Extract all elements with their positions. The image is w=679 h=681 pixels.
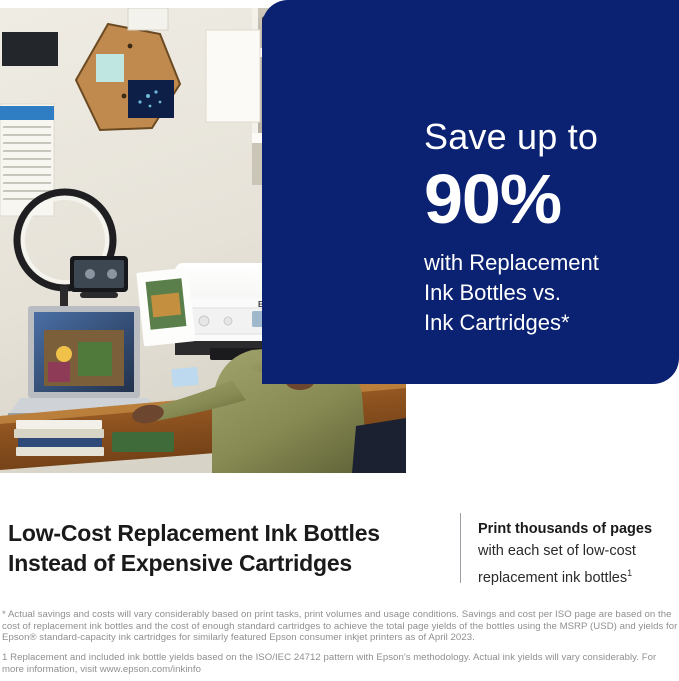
promo-subline-2: Ink Bottles vs. [424, 278, 674, 308]
callout-footnote-marker: 1 [627, 568, 632, 578]
callout-line-2: with each set of low-cost [478, 540, 673, 562]
promo-subline-1: with Replacement [424, 248, 674, 278]
promo-subline-3: Ink Cartridges* [424, 308, 674, 338]
hero-section: EPSON [0, 0, 679, 474]
callout-strong: Print thousands of pages [478, 518, 673, 540]
advertisement-page: EPSON [0, 0, 679, 681]
vertical-divider [460, 513, 461, 583]
callout-block: Print thousands of pages with each set o… [478, 518, 673, 589]
promo-copy: Save up to 90% with Replacement Ink Bott… [424, 116, 674, 338]
headline-line-1: Low-Cost Replacement Ink Bottles [8, 518, 448, 548]
promo-eyebrow: Save up to [424, 116, 674, 158]
footnote-asterisk-text: * Actual savings and costs will vary con… [2, 609, 678, 644]
promo-percent: 90% [424, 160, 674, 238]
headline-block: Low-Cost Replacement Ink Bottles Instead… [8, 518, 448, 578]
headline-line-2: Instead of Expensive Cartridges [8, 548, 448, 578]
footnote-one-text: 1 Replacement and included ink bottle yi… [2, 652, 678, 675]
footnote-one: 1 Replacement and included ink bottle yi… [2, 652, 678, 675]
footnote-asterisk: * Actual savings and costs will vary con… [2, 609, 678, 644]
value-prop-band: Low-Cost Replacement Ink Bottles Instead… [0, 505, 679, 595]
callout-line-3-text: replacement ink bottles [478, 570, 627, 586]
callout-line-3: replacement ink bottles1 [478, 562, 673, 589]
